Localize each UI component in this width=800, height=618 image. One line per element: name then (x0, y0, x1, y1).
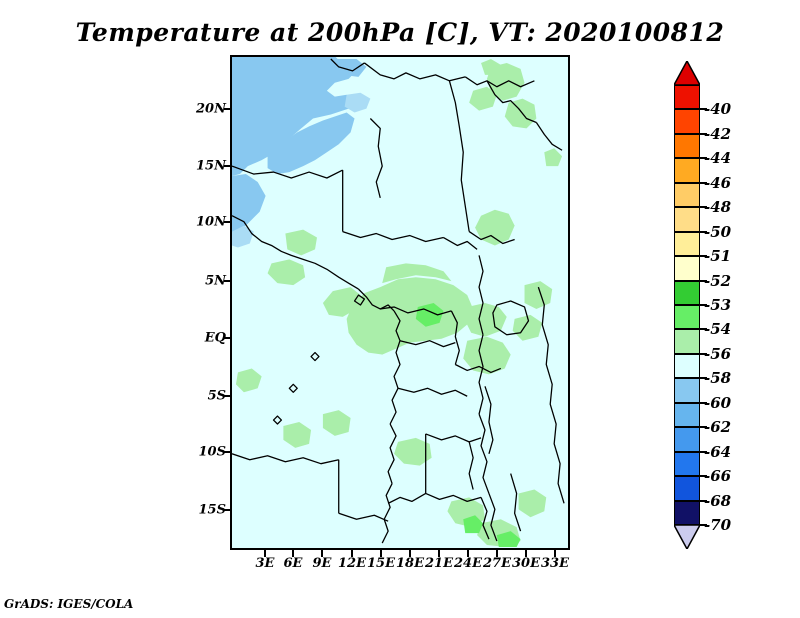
ytick-label-10s: 10S (166, 445, 226, 460)
colorbar-label-minus54: -54 (704, 320, 731, 338)
colorbar-band-2 (674, 134, 700, 158)
ytick-mark-eq (224, 337, 232, 339)
ytick-label-15n: 15N (166, 159, 226, 174)
xtick-label-9e: 9E (313, 556, 332, 571)
colorbar-band-1 (674, 109, 700, 133)
ytick-mark-5n (224, 280, 232, 282)
colorbar-label-minus58: -58 (704, 369, 731, 387)
xtick-label-3e: 3E (256, 556, 275, 571)
xtick-mark-12e (351, 550, 353, 557)
colorbar[interactable]: -40-42-44-46-48-50-51-52-53-54-56-58-60-… (674, 85, 700, 525)
xtick-label-33e: 33E (541, 556, 569, 571)
colorbar-label-minus68: -68 (704, 492, 731, 510)
xtick-label-6e: 6E (284, 556, 303, 571)
ytick-label-10n: 10N (166, 215, 226, 230)
ytick-label-20n: 20N (166, 102, 226, 117)
colorbar-label-minus60: -60 (704, 394, 731, 412)
xtick-mark-9e (321, 550, 323, 557)
xtick-label-24e: 24E (454, 556, 482, 571)
colorbar-band-15 (674, 452, 700, 476)
colorbar-label-minus50: -50 (704, 223, 731, 241)
xtick-mark-18e (409, 550, 411, 557)
xtick-label-12e: 12E (338, 556, 366, 571)
colorbar-label-minus66: -66 (704, 467, 731, 485)
xtick-mark-30e (525, 550, 527, 557)
ytick-mark-5s (224, 395, 232, 397)
colorbar-band-6 (674, 232, 700, 256)
xtick-mark-24e (467, 550, 469, 557)
map-plot-area[interactable] (230, 55, 570, 550)
colorbar-label-minus48: -48 (704, 198, 731, 216)
xtick-label-30e: 30E (512, 556, 540, 571)
colorbar-label-minus70: -70 (704, 516, 731, 534)
ytick-label-5n: 5N (166, 274, 226, 289)
ytick-mark-10s (224, 451, 232, 453)
colorbar-label-minus40: -40 (704, 100, 731, 118)
colorbar-band-13 (674, 403, 700, 427)
colorbar-label-minus42: -42 (704, 125, 731, 143)
ytick-label-15s: 15S (166, 503, 226, 518)
ytick-mark-10n (224, 221, 232, 223)
colorbar-label-minus56: -56 (704, 345, 731, 363)
map-field-svg (232, 57, 568, 548)
colorbar-band-12 (674, 378, 700, 402)
xtick-label-27e: 27E (483, 556, 511, 571)
colorbar-band-16 (674, 476, 700, 500)
xtick-mark-6e (292, 550, 294, 557)
ytick-mark-20n (224, 108, 232, 110)
xtick-label-21e: 21E (425, 556, 453, 571)
xtick-label-18e: 18E (396, 556, 424, 571)
colorbar-band-7 (674, 256, 700, 280)
credit-label: GrADS: IGES/COLA (4, 597, 133, 611)
colorbar-band-10 (674, 329, 700, 353)
colorbar-label-minus51: -51 (704, 247, 731, 265)
colorbar-band-8 (674, 281, 700, 305)
colorbar-label-minus46: -46 (704, 174, 731, 192)
colorbar-label-minus62: -62 (704, 418, 731, 436)
colorbar-band-3 (674, 158, 700, 182)
colorbar-label-minus53: -53 (704, 296, 731, 314)
colorbar-top-arrow (674, 61, 700, 85)
xtick-mark-27e (496, 550, 498, 557)
xtick-mark-33e (554, 550, 556, 557)
ytick-label-eq: EQ (166, 331, 226, 346)
xtick-mark-15e (380, 550, 382, 557)
colorbar-band-11 (674, 354, 700, 378)
xtick-label-15e: 15E (367, 556, 395, 571)
colorbar-label-minus52: -52 (704, 272, 731, 290)
colorbar-bottom-arrow (674, 525, 700, 549)
page-title: Temperature at 200hPa [C], VT: 202010081… (0, 18, 800, 47)
xtick-mark-3e (264, 550, 266, 557)
xtick-mark-21e (438, 550, 440, 557)
colorbar-band-9 (674, 305, 700, 329)
ytick-mark-15s (224, 509, 232, 511)
colorbar-label-minus44: -44 (704, 149, 731, 167)
ytick-label-5s: 5S (166, 389, 226, 404)
colorbar-band-4 (674, 183, 700, 207)
colorbar-label-minus64: -64 (704, 443, 731, 461)
ytick-mark-15n (224, 165, 232, 167)
colorbar-band-5 (674, 207, 700, 231)
colorbar-band-14 (674, 427, 700, 451)
colorbar-band-0 (674, 85, 700, 109)
colorbar-band-17 (674, 501, 700, 525)
